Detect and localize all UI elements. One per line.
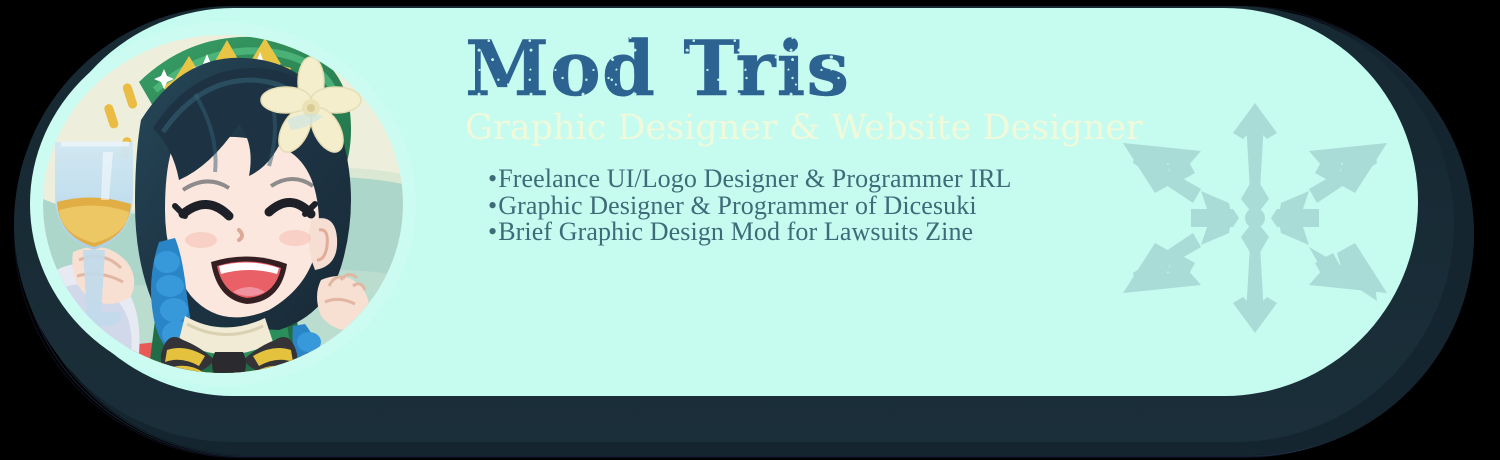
profile-card-canvas: Mod Tris Graphic Designer & Website Desi… [0,0,1500,460]
profile-role: Graphic Designer & Website Designer [465,108,1165,148]
avatar-ring [30,22,416,386]
list-item-label: Brief Graphic Design Mod for Lawsuits Zi… [498,217,973,246]
bullet-marker: • [488,164,497,193]
list-item: •Graphic Designer & Programmer of Dicesu… [488,193,1165,220]
avatar [43,35,403,373]
profile-credits-list: •Freelance UI/Logo Designer & Programmer… [488,166,1165,246]
bullet-marker: • [488,191,497,220]
page-title: Mod Tris [465,26,850,112]
list-item: •Freelance UI/Logo Designer & Programmer… [488,166,1165,193]
list-item-label: Freelance UI/Logo Designer & Programmer … [498,164,1011,193]
bullet-marker: • [488,217,497,246]
list-item-label: Graphic Designer & Programmer of Dicesuk… [498,191,976,220]
list-item: •Brief Graphic Design Mod for Lawsuits Z… [488,219,1165,246]
profile-text-block: Mod Tris Graphic Designer & Website Desi… [465,26,1165,246]
